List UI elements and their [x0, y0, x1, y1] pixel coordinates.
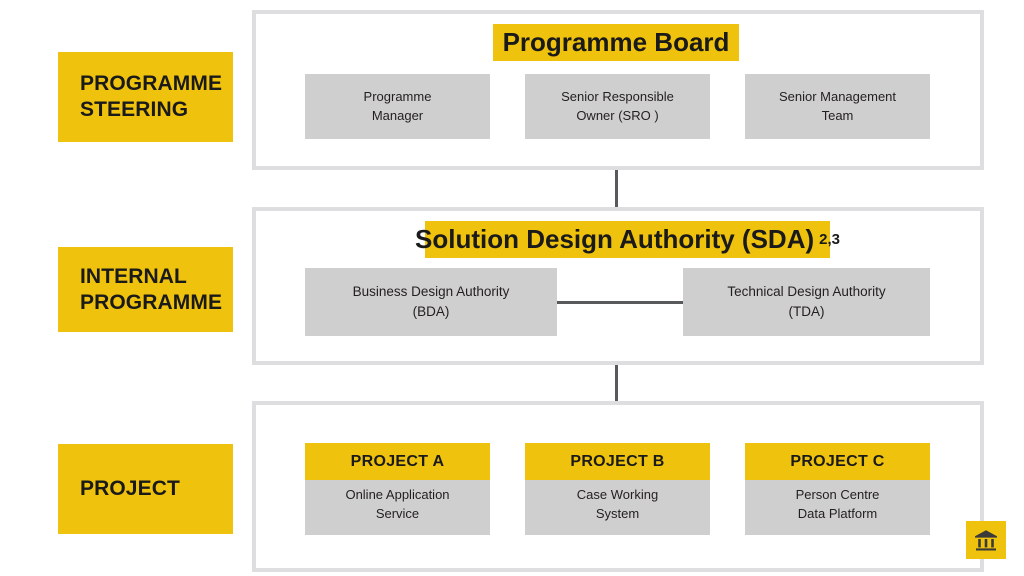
project-card-c-subtitle: Person Centre Data Platform: [745, 480, 930, 535]
connector-internal-to-project: [615, 365, 618, 401]
tier-label-internal-programme: INTERNAL PROGRAMME: [58, 247, 233, 332]
headline-programme-board-text: Programme Board: [503, 27, 730, 58]
tier-label-text: INTERNAL PROGRAMME: [80, 264, 222, 315]
headline-sda-text: Solution Design Authority (SDA): [415, 224, 814, 255]
connector-bda-to-tda: [557, 301, 685, 304]
org-chart-canvas: PROGRAMME STEERING INTERNAL PROGRAMME PR…: [0, 0, 1024, 576]
role-box-business-design-authority: Business Design Authority (BDA): [305, 268, 557, 336]
project-card-a-subtitle: Online Application Service: [305, 480, 490, 535]
project-card-c-title: PROJECT C: [745, 443, 930, 480]
role-box-senior-management-team: Senior Management Team: [745, 74, 930, 139]
tier-label-text: PROGRAMME STEERING: [80, 71, 222, 122]
role-box-programme-manager: Programme Manager: [305, 74, 490, 139]
headline-programme-board: Programme Board: [493, 24, 739, 61]
tier-label-text: PROJECT: [80, 476, 180, 502]
tier-label-project: PROJECT: [58, 444, 233, 534]
connector-steering-to-internal: [615, 170, 618, 207]
project-card-b-title: PROJECT B: [525, 443, 710, 480]
role-box-technical-design-authority: Technical Design Authority (TDA): [683, 268, 930, 336]
role-box-senior-responsible-owner: Senior Responsible Owner (SRO ): [525, 74, 710, 139]
classical-building-icon[interactable]: [966, 521, 1006, 559]
headline-solution-design-authority: Solution Design Authority (SDA)2,3: [425, 221, 830, 258]
project-card-a: PROJECT A Online Application Service: [305, 443, 490, 535]
project-card-a-title: PROJECT A: [305, 443, 490, 480]
tier-label-programme-steering: PROGRAMME STEERING: [58, 52, 233, 142]
project-card-b: PROJECT B Case Working System: [525, 443, 710, 535]
project-card-b-subtitle: Case Working System: [525, 480, 710, 535]
project-card-c: PROJECT C Person Centre Data Platform: [745, 443, 930, 535]
